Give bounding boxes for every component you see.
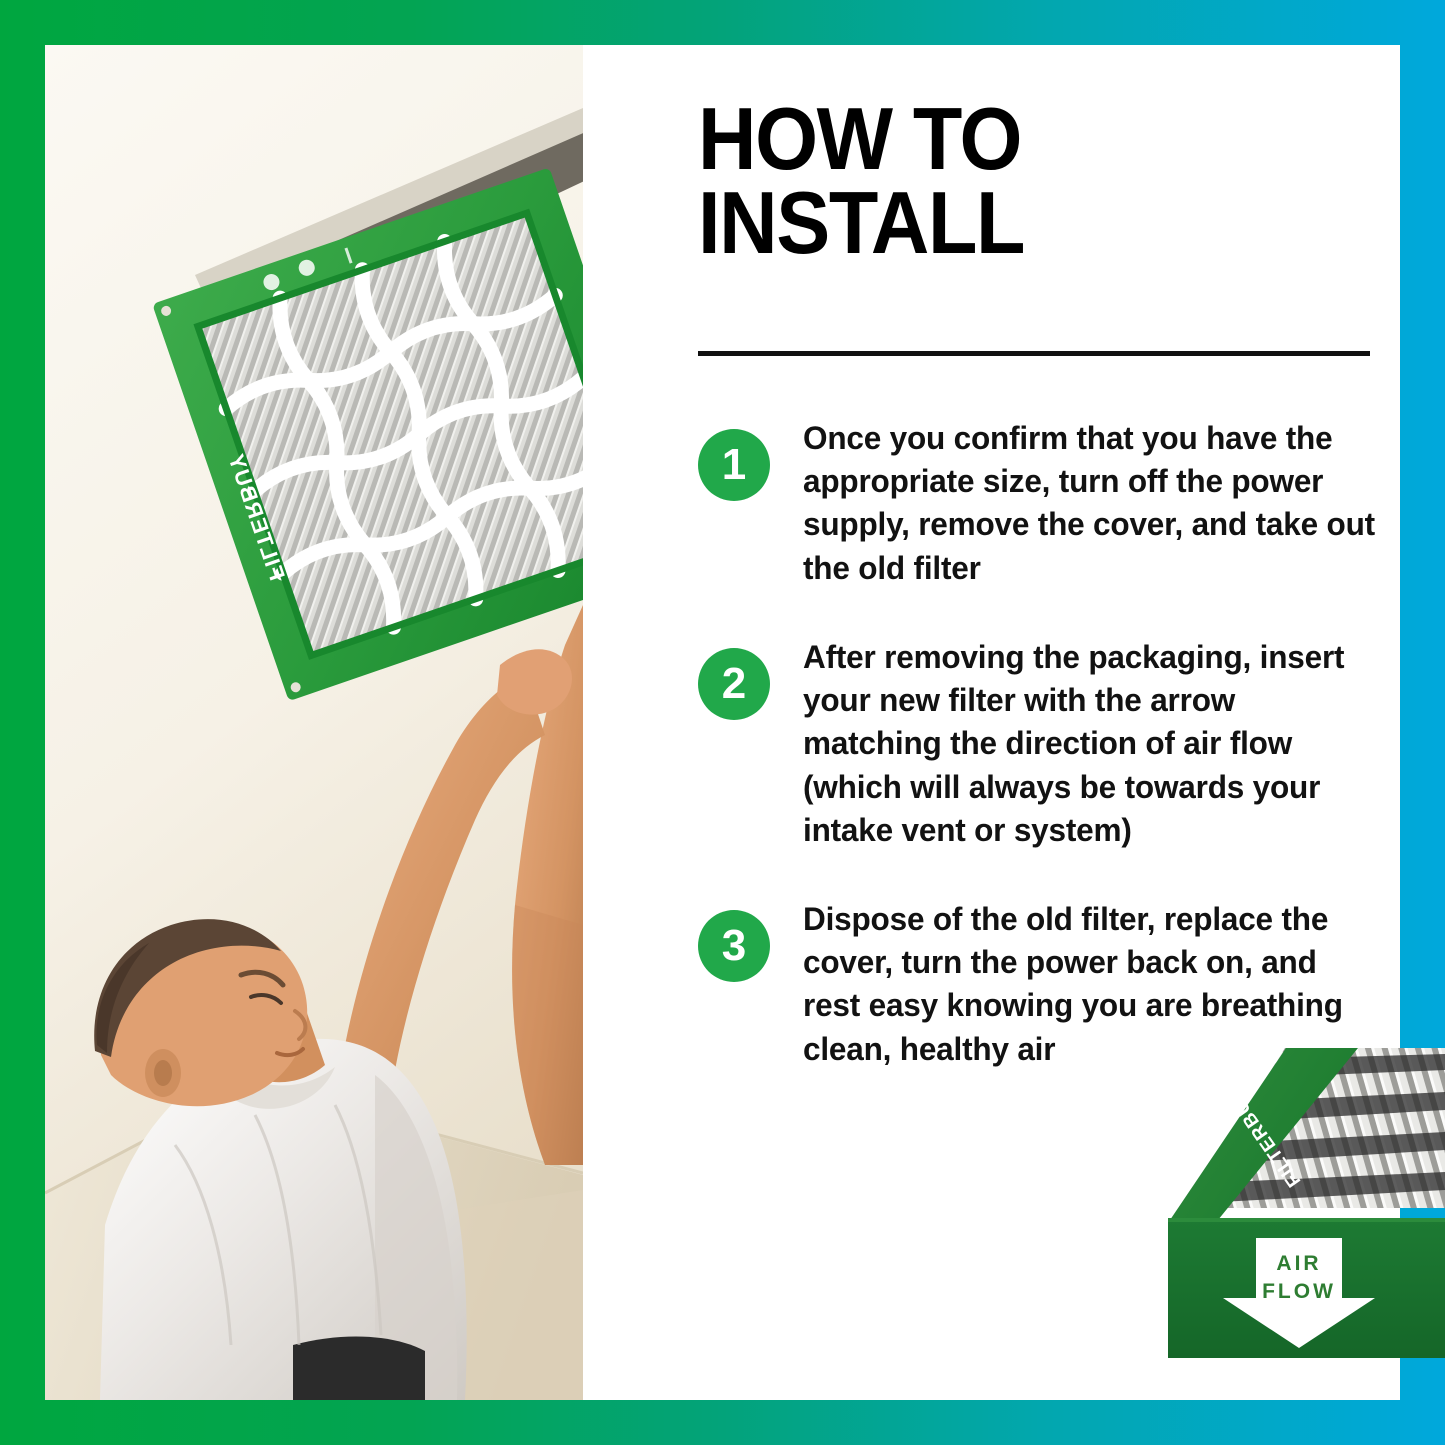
list-item: 2 After removing the packaging, insert y… [698, 636, 1398, 852]
list-item: 3 Dispose of the old filter, replace the… [698, 898, 1398, 1071]
title-divider [698, 351, 1370, 356]
page-title: HOW TO INSTALL [698, 97, 1388, 266]
headline-line-1: HOW TO [698, 97, 1333, 181]
photo-illustration: FILTERBUY [45, 45, 583, 1400]
headline-line-2: INSTALL [698, 181, 1333, 265]
instructions-panel: HOW TO INSTALL 1 Once you confirm that y… [583, 45, 1400, 1400]
installation-photo: FILTERBUY [45, 45, 583, 1400]
white-canvas: FILTERBUY [45, 45, 1400, 1400]
step-text: After removing the packaging, insert you… [803, 636, 1380, 852]
step-number-badge: 1 [698, 429, 770, 501]
step-number-badge: 3 [698, 910, 770, 982]
step-text: Once you confirm that you have the appro… [803, 417, 1380, 590]
step-text: Dispose of the old filter, replace the c… [803, 898, 1380, 1071]
steps-list: 1 Once you confirm that you have the app… [698, 417, 1398, 1117]
poster-root: FILTERBUY [0, 0, 1445, 1445]
list-item: 1 Once you confirm that you have the app… [698, 417, 1398, 590]
step-number-badge: 2 [698, 648, 770, 720]
